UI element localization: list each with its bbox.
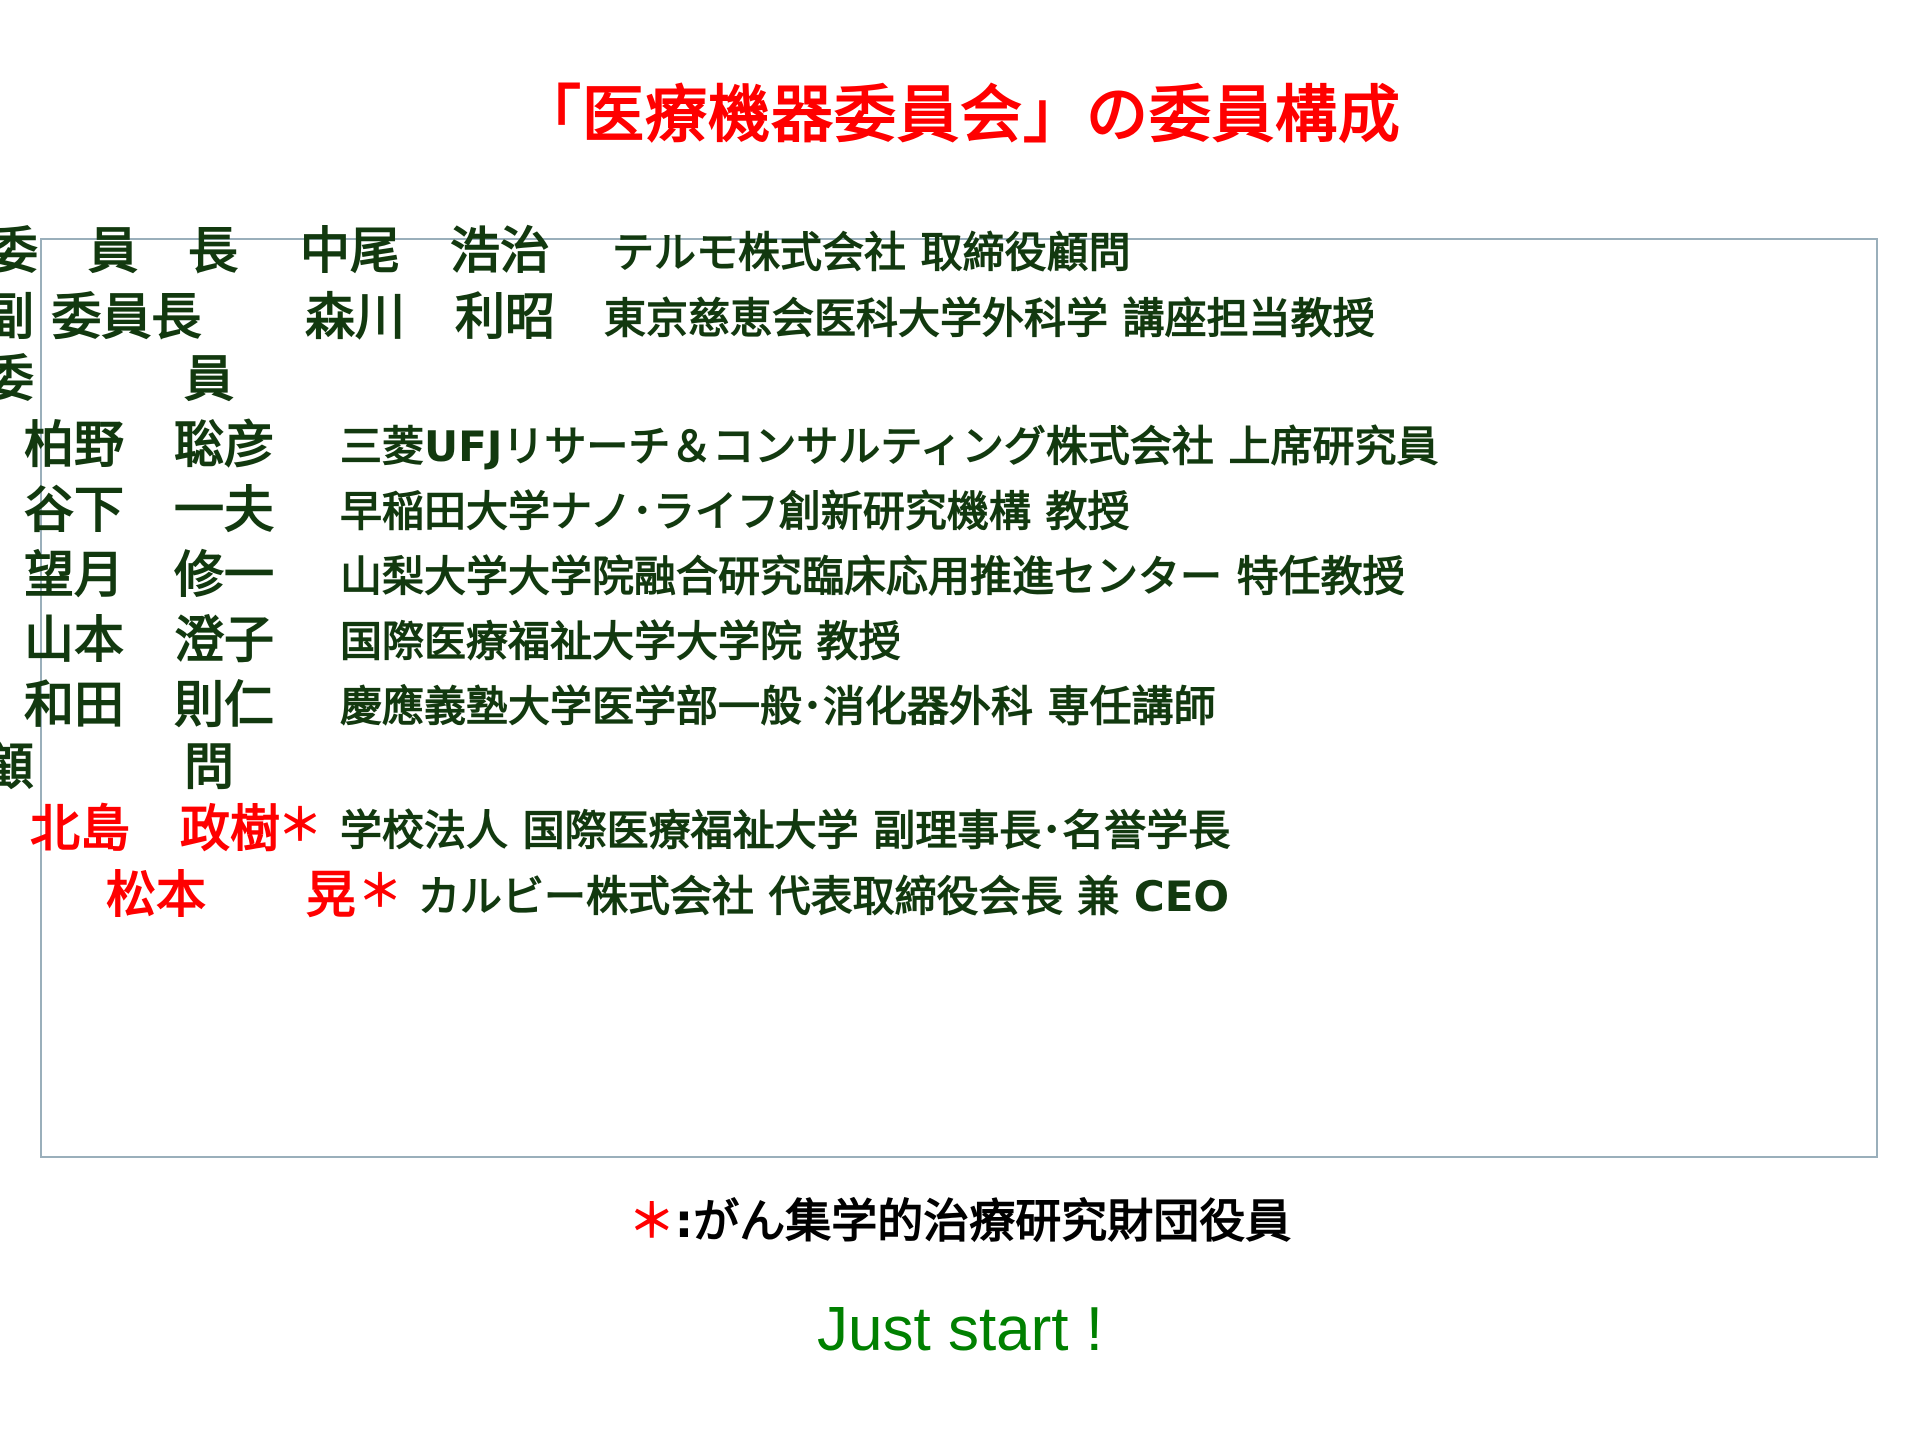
affiliation-chair: テルモ株式会社 取締役顧問 bbox=[612, 232, 1131, 274]
page-title: 「医療機器委員会」の委員構成 bbox=[0, 84, 1920, 146]
advisor-name: 北島 政樹 bbox=[30, 804, 280, 854]
name-chair: 中尾 浩治 bbox=[300, 226, 550, 276]
advisor-name: 松本 晃 bbox=[106, 870, 356, 920]
advisors-heading-label: 顧 問 bbox=[0, 742, 234, 792]
member-affiliation: 早稲田大学ナノ･ライフ創新研究機構 教授 bbox=[340, 491, 1130, 533]
member-name: 望月 修一 bbox=[24, 550, 274, 600]
member-affiliation: 山梨大学大学院融合研究臨床応用推進センター 特任教授 bbox=[340, 556, 1405, 598]
footnote-star-icon: ＊ bbox=[629, 1194, 675, 1248]
name-vice-chair: 森川 利昭 bbox=[305, 292, 555, 342]
advisor-star-icon: ＊ bbox=[358, 870, 402, 914]
member-name: 谷下 一夫 bbox=[24, 485, 274, 535]
member-affiliation: 慶應義塾大学医学部一般･消化器外科 専任講師 bbox=[340, 686, 1216, 728]
role-chair: 委 員 長 bbox=[0, 226, 238, 276]
advisor-affiliation: 学校法人 国際医療福祉大学 副理事長･名誉学長 bbox=[340, 810, 1230, 852]
role-vice-chair: 副 委員長 bbox=[0, 292, 201, 342]
advisor-star-icon: ＊ bbox=[278, 804, 322, 848]
affiliation-vice-chair: 東京慈恵会医科大学外科学 講座担当教授 bbox=[604, 298, 1375, 340]
footnote: ＊:がん集学的治療研究財団役員 bbox=[0, 1185, 1920, 1251]
footnote-text: :がん集学的治療研究財団役員 bbox=[675, 1194, 1291, 1248]
member-name: 柏野 聡彦 bbox=[24, 420, 274, 470]
member-affiliation: 国際医療福祉大学大学院 教授 bbox=[340, 621, 901, 663]
advisor-affiliation: カルビー株式会社 代表取締役会長 兼 CEO bbox=[418, 876, 1229, 918]
members-heading-label: 委 員 bbox=[0, 354, 234, 404]
member-affiliation: 三菱UFJリサーチ＆コンサルティング株式会社 上席研究員 bbox=[340, 426, 1439, 468]
just-start-text: Just start ! bbox=[0, 1294, 1920, 1365]
member-name: 山本 澄子 bbox=[24, 615, 274, 665]
member-name: 和田 則仁 bbox=[24, 680, 274, 730]
